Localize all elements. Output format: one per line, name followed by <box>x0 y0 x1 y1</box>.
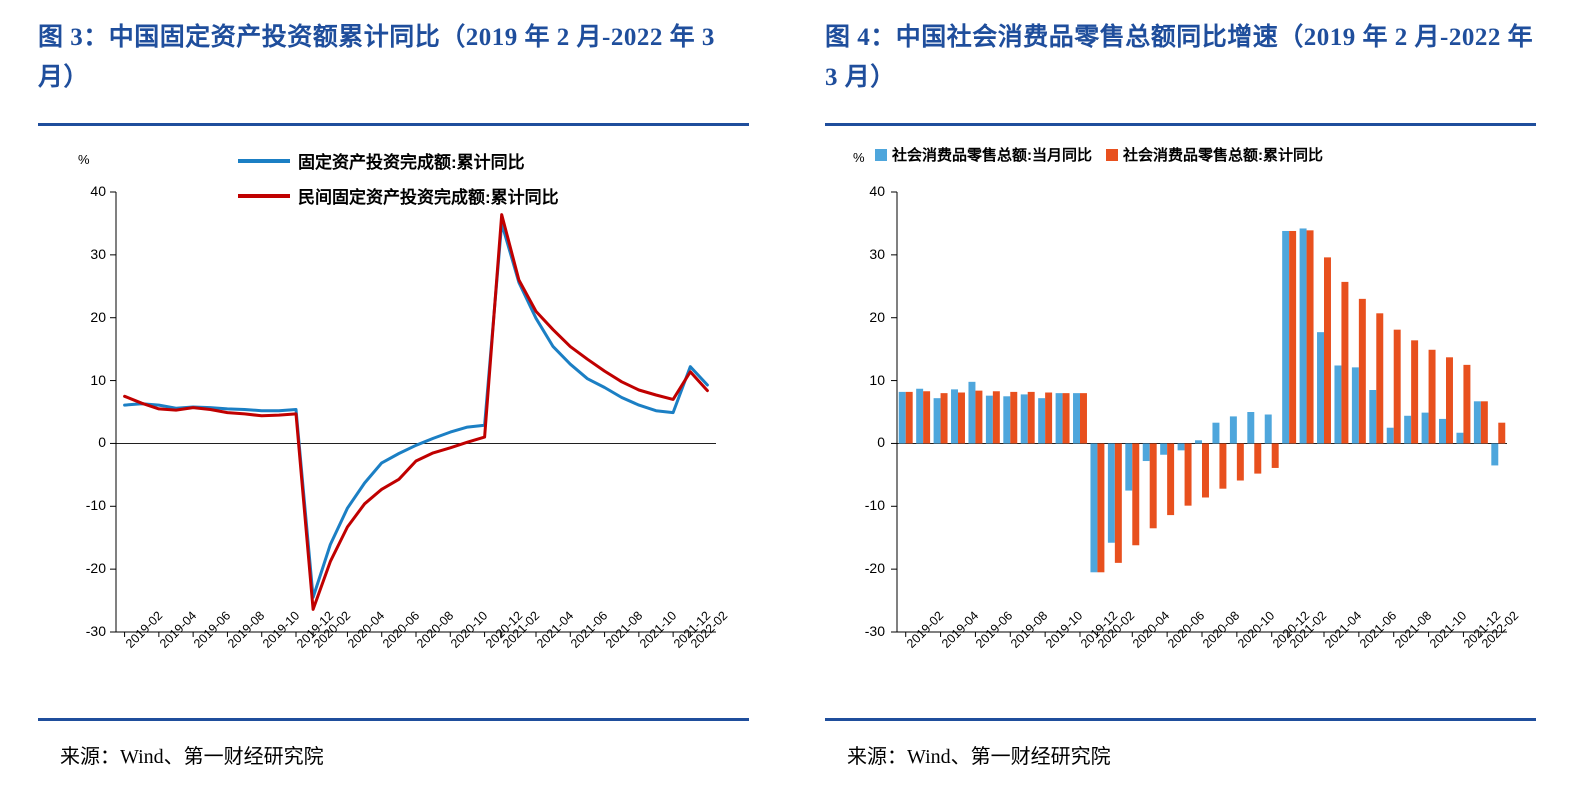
bar-series-1 <box>993 391 1000 443</box>
bar-series-0 <box>1404 416 1411 444</box>
bar-series-0 <box>1474 401 1481 443</box>
y-tick-label: 10 <box>851 372 885 388</box>
bar-series-0 <box>1178 443 1185 450</box>
bar-series-0 <box>1125 443 1132 490</box>
bar-series-0 <box>899 392 906 444</box>
bar-series-1 <box>923 391 930 443</box>
bar-series-0 <box>1352 367 1359 443</box>
bar-series-1 <box>1394 330 1401 444</box>
bar-series-0 <box>1160 443 1167 454</box>
bar-series-1 <box>1307 230 1314 443</box>
bar-series-0 <box>934 398 941 443</box>
figure-3-title: 图 3：中国固定资产投资额累计同比（2019 年 2 月-2022 年 3 月） <box>38 18 749 98</box>
bar-series-1 <box>975 391 982 444</box>
bar-series-1 <box>1115 443 1122 562</box>
bar-series-0 <box>1387 428 1394 444</box>
figure-4-bottom-rule <box>825 718 1536 721</box>
bar-series-1 <box>1202 443 1209 497</box>
bar-series-0 <box>916 389 923 444</box>
y-tick-label: 0 <box>851 434 885 450</box>
figure-4-title: 图 4：中国社会消费品零售总额同比增速（2019 年 2 月-2022 年 3 … <box>825 18 1536 98</box>
bar-series-1 <box>1359 299 1366 444</box>
bar-series-1 <box>1010 392 1017 444</box>
bar-series-1 <box>906 392 913 444</box>
y-tick-label: -30 <box>72 623 106 639</box>
bar-series-0 <box>1195 440 1202 443</box>
y-tick-label: -10 <box>72 497 106 513</box>
bar-series-0 <box>1317 332 1324 443</box>
bar-series-0 <box>1334 365 1341 443</box>
bar-series-0 <box>1021 394 1028 443</box>
bar-series-1 <box>1167 443 1174 515</box>
figure-3-panel: 图 3：中国固定资产投资额累计同比（2019 年 2 月-2022 年 3 月）… <box>0 0 787 797</box>
bar-series-1 <box>1481 401 1488 443</box>
y-tick-label: 20 <box>851 309 885 325</box>
y-tick-label: -20 <box>851 560 885 576</box>
bar-series-0 <box>1491 443 1498 465</box>
bar-series-1 <box>1254 443 1261 473</box>
bar-series-0 <box>986 396 993 444</box>
y-tick-label: 0 <box>72 434 106 450</box>
bar-series-1 <box>1324 257 1331 443</box>
figure-3-plot: % 固定资产投资完成额:累计同比 民间固定资产投资完成额:累计同比 -30-20… <box>38 130 749 710</box>
bar-series-1 <box>1150 443 1157 528</box>
bar-series-0 <box>1300 228 1307 443</box>
bar-series-1 <box>1237 443 1244 480</box>
bar-series-1 <box>1411 340 1418 443</box>
bar-series-1 <box>1446 357 1453 443</box>
y-tick-label: 10 <box>72 372 106 388</box>
bar-series-0 <box>1108 443 1115 542</box>
y-tick-label: 20 <box>72 309 106 325</box>
figures-page: 图 3：中国固定资产投资额累计同比（2019 年 2 月-2022 年 3 月）… <box>0 0 1574 797</box>
y-tick-label: 30 <box>72 246 106 262</box>
bar-series-0 <box>1090 443 1097 572</box>
bar-series-1 <box>1097 443 1104 572</box>
bar-series-0 <box>968 382 975 444</box>
bar-series-1 <box>1185 443 1192 505</box>
y-tick-label: 40 <box>851 183 885 199</box>
y-tick-label: 40 <box>72 183 106 199</box>
bar-series-0 <box>1212 423 1219 444</box>
bar-series-1 <box>1080 393 1087 443</box>
bar-series-1 <box>941 393 948 443</box>
bar-series-1 <box>1376 313 1383 443</box>
figure-3-source: 来源：Wind、第一财经研究院 <box>60 740 324 769</box>
bar-series-1 <box>1341 282 1348 444</box>
bar-series-0 <box>1265 415 1272 444</box>
figure-4-source: 来源：Wind、第一财经研究院 <box>847 740 1111 769</box>
bar-series-0 <box>1422 413 1429 444</box>
bar-series-1 <box>1289 231 1296 443</box>
bar-series-0 <box>1456 433 1463 444</box>
figure-4-plot: % 社会消费品零售总额:当月同比 社会消费品零售总额:累计同比 -30-20-1… <box>825 130 1536 710</box>
bar-series-1 <box>1272 443 1279 468</box>
figure-4-top-rule <box>825 123 1536 126</box>
bar-series-0 <box>1038 398 1045 443</box>
bar-series-0 <box>1056 393 1063 443</box>
bar-series-0 <box>1143 443 1150 461</box>
bar-series-0 <box>1439 419 1446 444</box>
bar-series-1 <box>1498 423 1505 444</box>
y-tick-label: 30 <box>851 246 885 262</box>
bar-series-1 <box>1028 392 1035 444</box>
figure-4-panel: 图 4：中国社会消费品零售总额同比增速（2019 年 2 月-2022 年 3 … <box>787 0 1574 797</box>
figure-3-bottom-rule <box>38 718 749 721</box>
bar-series-1 <box>1045 393 1052 444</box>
bar-series-0 <box>1003 396 1010 443</box>
bar-series-1 <box>1429 350 1436 444</box>
y-tick-label: -10 <box>851 497 885 513</box>
bar-series-1 <box>1219 443 1226 488</box>
bar-series-1 <box>1063 393 1070 443</box>
y-tick-label: -20 <box>72 560 106 576</box>
bar-series-1 <box>1463 365 1470 444</box>
figure-3-top-rule <box>38 123 749 126</box>
bar-series-1 <box>1132 443 1139 545</box>
bar-series-0 <box>1369 390 1376 443</box>
bar-series-0 <box>1282 231 1289 443</box>
bar-series-0 <box>951 389 958 443</box>
bar-series-0 <box>1230 416 1237 443</box>
y-tick-label: -30 <box>851 623 885 639</box>
bar-series-1 <box>958 393 965 444</box>
bar-series-0 <box>1073 393 1080 443</box>
bar-series-0 <box>1247 412 1254 443</box>
line-series-1 <box>125 215 708 610</box>
